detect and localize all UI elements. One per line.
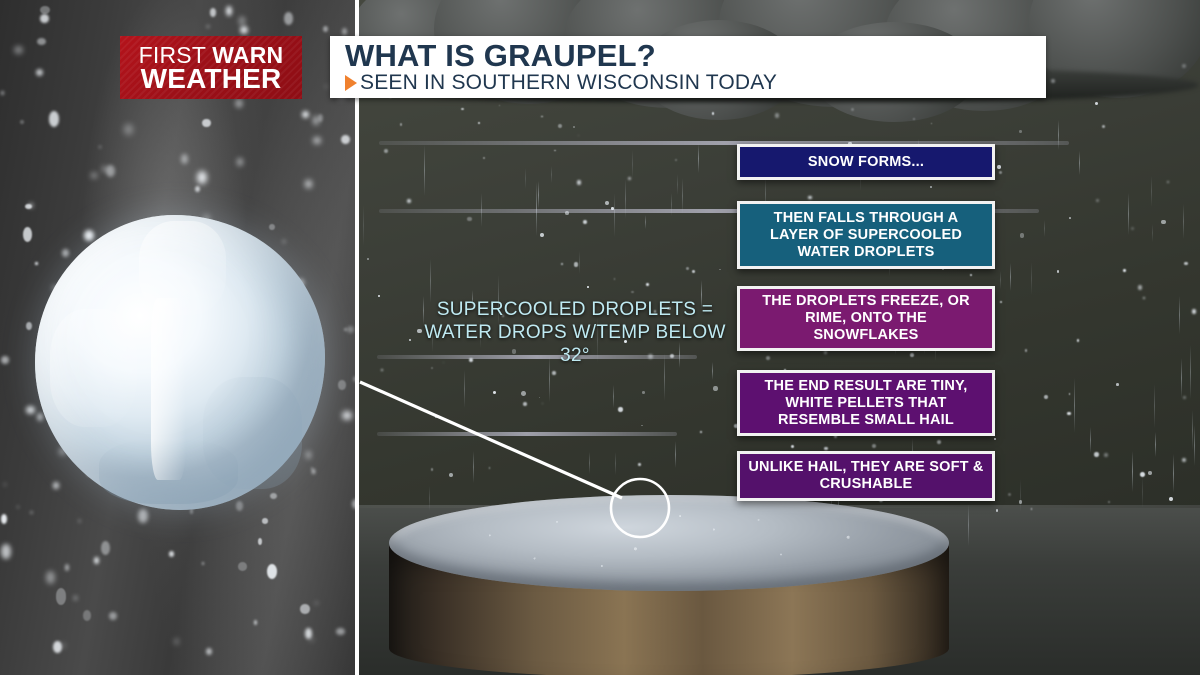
graupel-particle bbox=[449, 473, 453, 477]
graupel-particle bbox=[1094, 452, 1099, 457]
graupel-particle bbox=[1182, 64, 1185, 67]
snow-flake bbox=[29, 203, 32, 208]
graupel-particle bbox=[646, 283, 649, 286]
callout-text: THE DROPLETS FREEZE, ORRIME, ONTO THESNO… bbox=[762, 293, 970, 344]
panel-divider bbox=[355, 0, 359, 675]
graupel-particle bbox=[930, 186, 932, 188]
snow-flake bbox=[240, 26, 249, 34]
precip-streak bbox=[1151, 176, 1152, 207]
graupel-particle bbox=[1095, 102, 1098, 105]
graupel-particle bbox=[719, 269, 721, 271]
precip-streak bbox=[1090, 427, 1091, 453]
precip-streak bbox=[1154, 384, 1155, 428]
snow-flake bbox=[305, 180, 312, 188]
precip-streak bbox=[615, 452, 616, 475]
graupel-particle bbox=[997, 165, 1001, 169]
graupel-particle bbox=[1077, 339, 1079, 341]
snow-flake bbox=[17, 506, 19, 509]
snow-flake bbox=[226, 6, 232, 16]
snow-flake bbox=[46, 571, 55, 584]
snow-flake bbox=[313, 116, 318, 124]
graupel-particle bbox=[1025, 349, 1027, 351]
precip-streak bbox=[1044, 220, 1045, 237]
graupel-particle bbox=[1169, 497, 1173, 501]
snow-flake bbox=[269, 224, 275, 230]
snow-flake bbox=[26, 406, 35, 414]
ice-pedestal bbox=[389, 495, 949, 675]
graupel-particle bbox=[1167, 181, 1170, 184]
graupel-particle bbox=[435, 416, 437, 418]
graupel-particle bbox=[558, 124, 562, 128]
graupel-particle bbox=[467, 217, 471, 221]
snow-flake bbox=[181, 154, 188, 164]
precip-streak bbox=[525, 168, 526, 189]
precip-streak bbox=[1173, 454, 1174, 493]
weather-graphic: FIRST WARN WEATHER WHAT IS GRAUPEL? SEEN… bbox=[0, 0, 1200, 675]
snow-flake bbox=[305, 628, 312, 638]
graupel-particle bbox=[384, 149, 388, 153]
snow-flake bbox=[26, 322, 32, 330]
graupel-particle bbox=[578, 135, 579, 136]
precip-streak bbox=[481, 193, 482, 227]
snow-flake bbox=[336, 628, 344, 635]
precip-streak bbox=[1079, 151, 1080, 175]
precip-streak bbox=[1058, 120, 1059, 150]
graupel-particle bbox=[587, 286, 589, 288]
snow-flake bbox=[138, 509, 148, 522]
snow-flake bbox=[37, 413, 43, 421]
graupel-particle bbox=[638, 463, 641, 466]
subtitle-row: SEEN IN SOUTHERN WISCONSIN TODAY bbox=[345, 71, 1046, 95]
snow-flake bbox=[300, 604, 309, 613]
graupel-particle bbox=[1183, 396, 1186, 399]
precip-streak bbox=[1020, 479, 1021, 512]
graupel-particle bbox=[631, 291, 633, 293]
graupel-particle bbox=[539, 397, 541, 399]
graupel-particle bbox=[642, 391, 645, 394]
graupel-particle bbox=[628, 177, 631, 180]
snow-flake bbox=[40, 6, 50, 14]
graupel-particle bbox=[1067, 412, 1071, 416]
callout-line-2: WHITE PELLETS THAT bbox=[765, 395, 968, 412]
graupel-particle bbox=[937, 440, 941, 444]
graupel-particle bbox=[400, 123, 403, 126]
graupel-particle bbox=[1019, 500, 1022, 503]
graupel-particle bbox=[540, 233, 544, 237]
snow-flake bbox=[91, 173, 96, 178]
snow-flake bbox=[1, 544, 10, 559]
graupel-pellet-image bbox=[35, 215, 325, 510]
snow-flake bbox=[62, 249, 69, 257]
snow-flake bbox=[1, 356, 9, 363]
graupel-particle bbox=[478, 122, 480, 124]
graupel-particle bbox=[1069, 217, 1071, 219]
snow-flake bbox=[197, 171, 207, 184]
snow-flake bbox=[37, 38, 46, 45]
precip-streak bbox=[645, 215, 646, 230]
snow-flake bbox=[101, 541, 110, 555]
graupel-particle bbox=[1008, 493, 1011, 496]
snow-flake bbox=[238, 16, 246, 27]
first-warn-weather-logo: FIRST WARN WEATHER bbox=[120, 36, 302, 99]
snow-flake bbox=[20, 120, 24, 124]
snow-flake bbox=[315, 602, 318, 604]
graupel-particle bbox=[573, 126, 575, 128]
graupel-particle bbox=[931, 123, 933, 125]
snow-flake bbox=[325, 85, 328, 88]
graupel-particle bbox=[493, 391, 496, 394]
graupel-closeup-panel bbox=[0, 0, 357, 675]
graupel-particle bbox=[686, 267, 689, 270]
precip-streak bbox=[424, 145, 425, 196]
snow-flake bbox=[35, 262, 38, 264]
graupel-particle bbox=[1020, 233, 1025, 238]
graupel-particle bbox=[692, 270, 695, 273]
graupel-particle bbox=[913, 118, 915, 120]
graupel-particle bbox=[851, 108, 854, 111]
snow-flake bbox=[23, 227, 32, 241]
snow-flake bbox=[258, 538, 263, 545]
snow-flake bbox=[313, 137, 320, 143]
snow-flake bbox=[1, 91, 4, 95]
pedestal-icy-surface bbox=[389, 495, 949, 591]
precip-streak bbox=[1152, 224, 1153, 241]
graupel-particle bbox=[407, 199, 411, 203]
graupel-particle bbox=[1182, 458, 1186, 462]
graupel-particle bbox=[1057, 270, 1059, 272]
snow-flake bbox=[283, 240, 286, 243]
snow-flake bbox=[53, 482, 60, 488]
graupel-particle bbox=[996, 509, 999, 512]
supercooled-droplets-note: SUPERCOOLED DROPLETS = WATER DROPS W/TEM… bbox=[415, 298, 735, 367]
callout-box-droplets-freeze-rime: THE DROPLETS FREEZE, ORRIME, ONTO THESNO… bbox=[737, 286, 995, 351]
graupel-particle bbox=[499, 105, 500, 106]
callout-line-1: UNLIKE HAIL, THEY ARE SOFT & bbox=[748, 459, 983, 476]
precip-streak bbox=[1194, 425, 1195, 467]
graupel-particle bbox=[791, 445, 794, 448]
snow-flake bbox=[195, 186, 200, 192]
snow-flake bbox=[124, 124, 133, 135]
page-subtitle: SEEN IN SOUTHERN WISCONSIN TODAY bbox=[360, 71, 777, 95]
graupel-particle bbox=[489, 467, 490, 468]
graupel-particle bbox=[1184, 262, 1187, 265]
precip-streak bbox=[538, 181, 539, 209]
precip-streak bbox=[632, 150, 633, 178]
callout-line-1: THE DROPLETS FREEZE, OR bbox=[762, 293, 970, 310]
snow-flake bbox=[36, 69, 43, 75]
snow-flake bbox=[210, 8, 217, 17]
graupel-particle bbox=[618, 407, 622, 411]
precip-streak bbox=[589, 452, 590, 474]
graupel-particle bbox=[461, 108, 463, 110]
snow-flake bbox=[30, 511, 33, 514]
graupel-particle bbox=[541, 116, 542, 117]
graupel-particle bbox=[583, 220, 588, 225]
graupel-particle bbox=[1108, 501, 1110, 503]
graupel-particle bbox=[712, 112, 715, 115]
graupel-particle bbox=[554, 150, 556, 152]
precip-streak bbox=[671, 193, 672, 216]
precip-streak bbox=[1010, 263, 1011, 291]
callout-text: THEN FALLS THROUGH ALAYER OF SUPERCOOLED… bbox=[770, 210, 962, 261]
snow-flake bbox=[99, 146, 101, 149]
graupel-particle bbox=[824, 447, 827, 450]
graupel-particle bbox=[381, 369, 383, 371]
precip-streak bbox=[625, 179, 626, 220]
snow-flake bbox=[342, 28, 347, 35]
graupel-particle bbox=[605, 201, 609, 205]
page-title: WHAT IS GRAUPEL? bbox=[345, 39, 1046, 72]
graupel-particle bbox=[409, 339, 411, 341]
snow-flake bbox=[338, 380, 345, 389]
snow-flake bbox=[1, 514, 7, 524]
snow-flake bbox=[284, 12, 294, 25]
precip-streak bbox=[1183, 204, 1184, 239]
precip-streak bbox=[1179, 296, 1180, 334]
graupel-particle bbox=[970, 274, 972, 276]
graupel-particle bbox=[713, 386, 717, 390]
snow-flake bbox=[254, 620, 257, 625]
graupel-particle bbox=[1102, 125, 1105, 128]
snow-flake bbox=[302, 111, 309, 119]
snow-flake bbox=[40, 14, 48, 23]
graupel-particle bbox=[910, 353, 914, 357]
precip-streak bbox=[614, 193, 615, 237]
graupel-particle bbox=[431, 367, 433, 369]
graupel-particle bbox=[1104, 453, 1108, 457]
precip-streak bbox=[1031, 262, 1032, 295]
graupel-particle bbox=[614, 278, 616, 280]
supercooled-note-line-2: WATER DROPS W/TEMP BELOW 32° bbox=[415, 321, 735, 367]
graupel-particle bbox=[565, 211, 569, 215]
graupel-particle bbox=[1143, 297, 1145, 299]
graupel-particle bbox=[577, 180, 582, 185]
snow-flake bbox=[262, 518, 269, 523]
graupel-particle bbox=[1131, 227, 1134, 230]
snow-flake bbox=[206, 25, 209, 28]
graupel-particle bbox=[994, 438, 996, 440]
precip-streak bbox=[1142, 476, 1143, 508]
precip-streak bbox=[1192, 410, 1193, 450]
precip-streak bbox=[613, 385, 614, 408]
graupel-particle bbox=[641, 425, 643, 427]
precip-streak bbox=[579, 251, 580, 274]
precip-streak bbox=[1074, 378, 1075, 433]
snow-flake bbox=[56, 588, 67, 605]
snow-flake bbox=[84, 230, 94, 240]
graupel-particle bbox=[999, 171, 1002, 174]
graupel-particle bbox=[1019, 130, 1022, 133]
graupel-particle bbox=[611, 207, 614, 210]
graupel-particle bbox=[378, 295, 380, 297]
snow-flake bbox=[236, 501, 243, 510]
callout-text: UNLIKE HAIL, THEY ARE SOFT &CRUSHABLE bbox=[748, 459, 983, 493]
snow-flake bbox=[61, 644, 64, 647]
precip-streak bbox=[1190, 345, 1191, 399]
graupel-particle bbox=[431, 468, 434, 471]
callout-line-2: LAYER OF SUPERCOOLED bbox=[770, 227, 962, 244]
logo-line-2: WEATHER bbox=[141, 66, 282, 93]
snow-flake bbox=[78, 519, 81, 522]
snow-flake bbox=[49, 111, 59, 126]
snow-flake bbox=[306, 451, 311, 458]
graupel-particle bbox=[1161, 220, 1165, 224]
snow-flake bbox=[106, 165, 115, 177]
callout-box-end-result-tiny-pellets: THE END RESULT ARE TINY,WHITE PELLETS TH… bbox=[737, 370, 995, 436]
snow-flake bbox=[53, 641, 62, 653]
graupel-particle bbox=[1069, 393, 1071, 395]
snow-flake bbox=[83, 610, 91, 620]
precip-streak bbox=[1000, 271, 1001, 288]
graupel-particle bbox=[1192, 309, 1196, 313]
snow-flake bbox=[74, 596, 78, 600]
graupel-particle bbox=[1096, 199, 1099, 202]
snow-flake bbox=[318, 114, 323, 122]
precip-streak bbox=[551, 166, 552, 184]
callout-text: THE END RESULT ARE TINY,WHITE PELLETS TH… bbox=[765, 378, 968, 429]
play-triangle-icon bbox=[345, 75, 357, 91]
precip-streak bbox=[698, 144, 699, 172]
graupel-particle bbox=[766, 356, 770, 360]
graupel-particle bbox=[1140, 472, 1145, 477]
callout-line-3: SNOWFLAKES bbox=[762, 327, 970, 344]
graupel-particle bbox=[824, 351, 827, 354]
callout-line-1: THE END RESULT ARE TINY, bbox=[765, 378, 968, 395]
callout-line-3: WATER DROPLETS bbox=[770, 244, 962, 261]
graupel-particle bbox=[521, 391, 526, 396]
graupel-particle bbox=[1116, 383, 1119, 386]
precip-streak bbox=[1128, 193, 1129, 235]
callout-line-1: THEN FALLS THROUGH A bbox=[770, 210, 962, 227]
graupel-particle bbox=[552, 371, 556, 375]
precip-streak bbox=[430, 259, 431, 303]
callout-box-snow-forms: SNOW FORMS... bbox=[737, 144, 995, 180]
snow-flake bbox=[175, 639, 178, 644]
graupel-particle bbox=[561, 263, 563, 265]
graupel-particle bbox=[542, 403, 544, 405]
snow-flake bbox=[341, 135, 350, 145]
snow-flake bbox=[65, 564, 70, 571]
graupel-particle bbox=[1123, 269, 1126, 272]
callout-box-soft-and-crushable: UNLIKE HAIL, THEY ARE SOFT &CRUSHABLE bbox=[737, 451, 995, 501]
snow-flake bbox=[323, 26, 328, 33]
callout-line-1: SNOW FORMS... bbox=[808, 154, 924, 171]
snow-flake bbox=[238, 562, 247, 571]
snow-flake bbox=[206, 648, 212, 655]
snow-flake bbox=[14, 46, 22, 54]
snow-flake bbox=[270, 493, 277, 499]
callout-line-2: CRUSHABLE bbox=[748, 476, 983, 493]
snow-flake bbox=[312, 469, 316, 474]
snow-flake bbox=[342, 411, 352, 420]
callout-box-falls-through-supercooled: THEN FALLS THROUGH ALAYER OF SUPERCOOLED… bbox=[737, 201, 995, 269]
graupel-particle bbox=[1148, 471, 1152, 475]
snow-flake bbox=[347, 326, 354, 332]
graupel-particle bbox=[675, 159, 677, 161]
graupel-particle bbox=[1000, 301, 1002, 303]
snow-flake bbox=[109, 612, 117, 620]
precip-streak bbox=[677, 174, 678, 195]
callout-line-3: RESEMBLE SMALL HAIL bbox=[765, 412, 968, 429]
precip-streak bbox=[473, 451, 474, 483]
snow-flake bbox=[169, 551, 175, 556]
precip-streak bbox=[363, 205, 364, 246]
precip-streak bbox=[1181, 358, 1182, 398]
precip-streak bbox=[1132, 451, 1133, 492]
snow-flake bbox=[202, 119, 210, 127]
snow-flake bbox=[94, 557, 99, 564]
graupel-particle bbox=[523, 402, 527, 406]
precip-streak bbox=[464, 370, 465, 408]
graupel-particle bbox=[1138, 285, 1143, 290]
graupel-particle bbox=[775, 113, 780, 118]
graupel-particle bbox=[872, 444, 876, 448]
graupel-particle bbox=[367, 258, 369, 260]
snow-flake bbox=[235, 99, 243, 107]
snow-flake bbox=[202, 562, 204, 565]
graupel-particle bbox=[1044, 395, 1048, 399]
callout-line-2: RIME, ONTO THE bbox=[762, 310, 970, 327]
precip-streak bbox=[1155, 432, 1156, 457]
graupel-particle bbox=[483, 157, 485, 159]
supercooled-note-line-1: SUPERCOOLED DROPLETS = bbox=[415, 298, 735, 321]
graupel-particle bbox=[700, 431, 702, 433]
snow-flake bbox=[267, 564, 277, 579]
graupel-particle bbox=[1051, 79, 1055, 83]
snow-flake bbox=[4, 483, 6, 486]
callout-text: SNOW FORMS... bbox=[808, 154, 924, 171]
graupel-particle bbox=[574, 262, 578, 266]
precip-streak bbox=[968, 504, 969, 546]
snow-flake bbox=[237, 158, 242, 166]
precip-streak bbox=[682, 178, 683, 215]
snow-flake bbox=[310, 638, 313, 641]
title-bar: WHAT IS GRAUPEL? SEEN IN SOUTHERN WISCON… bbox=[330, 36, 1046, 98]
graupel-particle bbox=[1031, 508, 1033, 510]
graupel-particle bbox=[808, 196, 811, 199]
precip-streak bbox=[675, 441, 676, 468]
